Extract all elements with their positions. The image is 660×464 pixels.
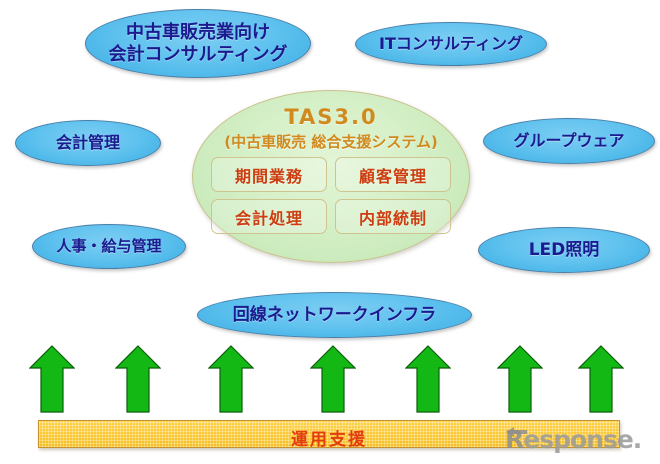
core-title: TAS3.0: [193, 105, 469, 129]
core-subtitle: (中古車販売 総合支援システム): [193, 131, 469, 152]
up-arrow-icon: [115, 344, 161, 414]
watermark-arrow-icon: [503, 424, 529, 438]
satellite-label: グループウェア: [507, 132, 630, 151]
satellite-ellipse-network-infrastructure[interactable]: 回線ネットワークインフラ: [197, 292, 472, 338]
satellite-label: 回線ネットワークインフラ: [227, 305, 443, 325]
satellite-ellipse-accounting-management[interactable]: 会計管理: [15, 120, 161, 166]
satellite-label: LED照明: [523, 240, 606, 260]
satellite-label: ITコンサルティング: [373, 35, 529, 54]
core-module-box[interactable]: 顧客管理: [335, 157, 451, 192]
satellite-label: 会計管理: [50, 134, 126, 153]
diagram-canvas: 中古車販売業向け 会計コンサルティング ITコンサルティング 会計管理 グループ…: [0, 0, 660, 464]
satellite-label-group: 中古車販売業向け 会計コンサルティング: [103, 22, 294, 64]
satellite-label-line2: 会計コンサルティング: [109, 44, 288, 65]
satellite-ellipse-hr-payroll-management[interactable]: 人事・給与管理: [32, 224, 186, 269]
satellite-label-line1: 中古車販売業向け: [109, 22, 288, 43]
core-module-box[interactable]: 期間業務: [211, 157, 327, 192]
satellite-ellipse-used-car-accounting-consulting[interactable]: 中古車販売業向け 会計コンサルティング: [85, 9, 311, 78]
satellite-ellipse-it-consulting[interactable]: ITコンサルティング: [355, 22, 547, 66]
satellite-label: 人事・給与管理: [50, 238, 167, 256]
satellite-ellipse-groupware[interactable]: グループウェア: [483, 118, 655, 164]
up-arrow-icon: [29, 344, 75, 414]
up-arrow-icon: [578, 344, 624, 414]
up-arrow-icon: [405, 344, 451, 414]
core-module-box[interactable]: 会計処理: [211, 199, 327, 234]
up-arrow-icon: [310, 344, 356, 414]
core-system-ellipse[interactable]: TAS3.0 (中古車販売 総合支援システム) 期間業務 顧客管理 会計処理 内…: [192, 90, 470, 263]
up-arrow-icon: [208, 344, 254, 414]
foundation-bar[interactable]: 運用支援: [38, 420, 620, 448]
core-module-grid: 期間業務 顧客管理 会計処理 内部統制: [211, 157, 451, 234]
foundation-label: 運用支援: [39, 425, 619, 450]
core-module-box[interactable]: 内部統制: [335, 199, 451, 234]
satellite-ellipse-led-lighting[interactable]: LED照明: [478, 227, 650, 273]
up-arrow-icon: [497, 344, 543, 414]
